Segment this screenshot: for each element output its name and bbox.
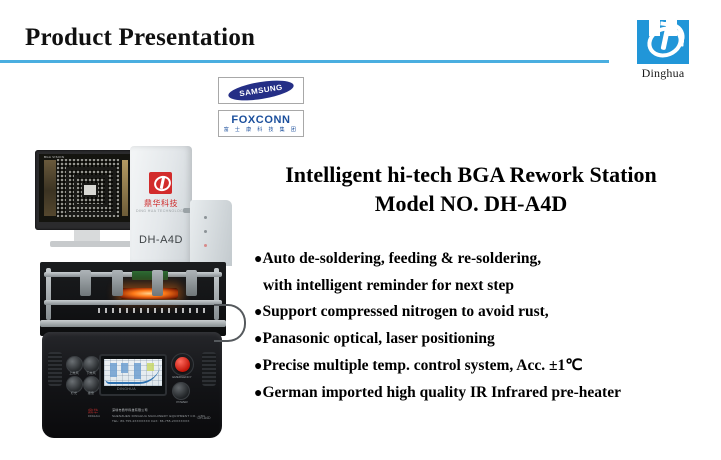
base-brand-sub: DINGHUA (88, 415, 100, 418)
feature-item: ●German imported high quality IR Infrare… (254, 380, 714, 407)
foxconn-logo-box: FOXCONN 富 士 康 科 技 集 团 (218, 110, 304, 137)
feature-item: ●Precise multiple temp. control system, … (254, 353, 714, 380)
emergency-stop-label: EMERGENCY (166, 375, 198, 379)
headline-line-1: Intelligent hi-tech BGA Rework Station (232, 160, 710, 189)
feature-text: Auto de-soldering, feeding & re-solderin… (262, 250, 541, 267)
feature-item: with intelligent reminder for next step (254, 273, 714, 299)
pcb-edge-graphic (44, 160, 56, 216)
base-brand-mark: 鼎华 (88, 408, 99, 415)
samsung-logo-icon: SAMSUNG (227, 77, 295, 104)
base-model-tag: DH-A4D (192, 416, 216, 420)
brand-name: Dinghua (633, 66, 693, 81)
base-vent-left (48, 352, 62, 386)
feature-text: Panasonic optical, laser positioning (262, 330, 494, 347)
emergency-stop-icon (175, 357, 190, 372)
feature-text: with intelligent reminder for next step (263, 277, 514, 294)
preheater-vent-row (98, 308, 208, 313)
machine-base: 上热风 下热风 灯光 报警 DINGHUA EMERGENCY (42, 332, 222, 438)
base-vent-right (202, 352, 216, 386)
head-indicator-icon (204, 244, 207, 247)
monitor-stand (50, 241, 136, 247)
product-headline: Intelligent hi-tech BGA Rework Station M… (232, 160, 710, 218)
feature-item: ●Support compressed nitrogen to avoid ru… (254, 299, 714, 326)
pcb-clamp (152, 270, 163, 296)
pcb-clamp (112, 270, 123, 296)
head-indicator-icon (204, 216, 207, 219)
pcb-strip-graphic (122, 160, 128, 216)
base-company-en: SHENZHEN DINGHUA MACHINERY EQUIPMENT CO.… (112, 414, 205, 418)
pcb-clamp (80, 270, 91, 296)
feature-text: Support compressed nitrogen to avoid rus… (262, 303, 548, 320)
lcd-face (104, 359, 162, 386)
title-divider (0, 60, 609, 63)
vision-monitor: BGA VISION (35, 150, 139, 230)
head-indicator-icon (204, 230, 207, 233)
product-photo: BGA VISION 鼎华科技 DING HUA TECHNOLOGY DH-A… (18, 142, 246, 442)
tower-brand-cn: 鼎华科技 (130, 198, 192, 209)
base-company-cn: 深圳市鼎华科技有限公司 (112, 408, 148, 412)
headline-line-2: Model NO. DH-A4D (232, 189, 710, 218)
nozzle-head-block (190, 200, 232, 266)
foxconn-logo-text: FOXCONN (224, 115, 299, 126)
samsung-logo-box: SAMSUNG (218, 77, 304, 104)
brand-logo: Dinghua (633, 14, 693, 81)
feature-text: Precise multiple temp. control system, A… (262, 357, 582, 374)
lcd-caption: DINGHUA (117, 387, 136, 391)
ir-heater-glow (120, 288, 178, 299)
base-company-contact: TEL: 86-755-2XXXXXXX FAX: 86-755-2XXXXXX… (112, 419, 190, 423)
tower-model-label: DH-A4D (130, 234, 192, 246)
machine-tower: 鼎华科技 DING HUA TECHNOLOGY DH-A4D (130, 146, 192, 264)
foxconn-logo-subtext: 富 士 康 科 技 集 团 (224, 128, 299, 133)
power-dial-label: POWER (166, 400, 198, 404)
emergency-stop-button[interactable] (171, 353, 194, 376)
page-title: Product Presentation (25, 24, 255, 52)
feature-list: ●Auto de-soldering, feeding & re-solderi… (254, 246, 714, 407)
pcb-work-area (40, 262, 226, 336)
bga-ring-inner (82, 183, 98, 197)
rail-middle (44, 300, 222, 305)
feature-item: ●Auto de-soldering, feeding & re-solderi… (254, 246, 714, 273)
power-dial[interactable] (172, 382, 190, 400)
feature-item: ●Panasonic optical, laser positioning (254, 326, 714, 353)
pcb-clamp (186, 270, 197, 296)
feature-text: German imported high quality IR Infrared… (262, 384, 621, 401)
samsung-logo-text: SAMSUNG (239, 83, 284, 98)
dinghua-logo-icon (637, 14, 689, 64)
monitor-screen: BGA VISION (39, 154, 135, 222)
control-touchscreen[interactable]: DINGHUA (99, 354, 167, 396)
customer-logo-group: SAMSUNG FOXCONN 富 士 康 科 技 集 团 (218, 77, 304, 143)
slide-canvas: Product Presentation Dinghua SAMSUNG FOX… (0, 0, 721, 460)
dinghua-red-logo-icon (149, 172, 172, 194)
rail-bottom (40, 320, 226, 327)
foxconn-logo-icon: FOXCONN 富 士 康 科 技 集 团 (224, 115, 299, 133)
power-cable (214, 304, 246, 342)
